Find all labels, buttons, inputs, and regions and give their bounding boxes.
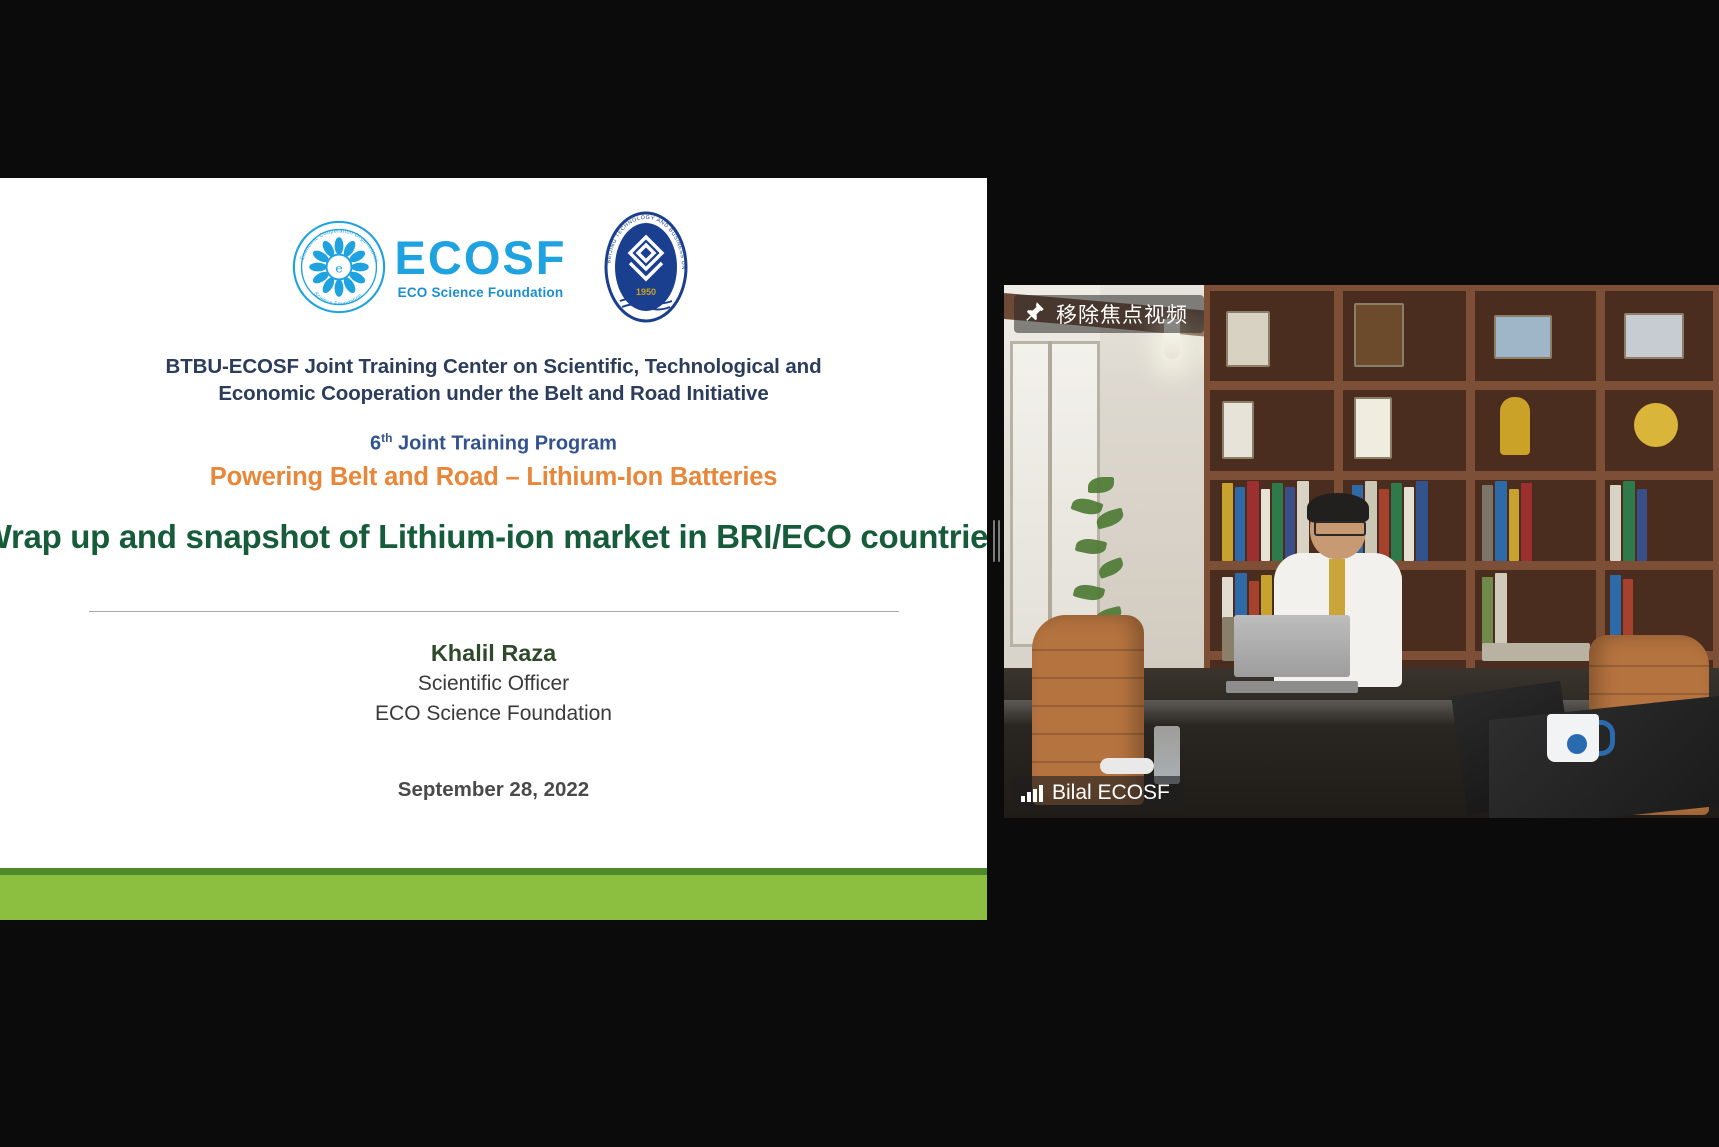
video-scene (1004, 285, 1719, 818)
slide-footer-bar (0, 868, 987, 920)
mug-logo (1567, 734, 1587, 754)
drag-handle-line (998, 520, 1000, 562)
remove-spotlight-label: 移除焦点视频 (1056, 299, 1188, 329)
drag-handle-icon[interactable] (993, 520, 1000, 562)
ecosf-wordmark-text: ECOSF (395, 234, 567, 281)
svg-text:1950: 1950 (636, 287, 656, 297)
ecosf-logo: e Economic Cooperation Organization Scie… (291, 219, 567, 315)
program-ordinal: th (381, 431, 392, 445)
slide-heading: BTBU-ECOSF Joint Training Center on Scie… (165, 353, 821, 407)
participant-name-label: Bilal ECOSF (1052, 781, 1170, 805)
slide-footer-stripe (0, 868, 987, 875)
ecosf-seal-icon: e Economic Cooperation Organization Scie… (291, 219, 387, 315)
participant-name-badge: Bilal ECOSF (1012, 776, 1184, 810)
presenter-name: Khalil Raza (375, 638, 612, 670)
drag-handle-line (993, 520, 995, 562)
room-window-mullion (1048, 341, 1052, 641)
meeting-stage: e Economic Cooperation Organization Scie… (0, 0, 1719, 1147)
signal-bars-icon (1021, 785, 1043, 802)
pin-icon (1024, 300, 1046, 328)
slide-main-title: Wrap up and snapshot of Lithium-ion mark… (0, 518, 987, 556)
slide-content: e Economic Cooperation Organization Scie… (0, 178, 987, 865)
program-line: 6th Joint Training Program (370, 431, 617, 456)
slide-logo-row: e Economic Cooperation Organization Scie… (291, 211, 697, 323)
remove-spotlight-button[interactable]: 移除焦点视频 (1014, 295, 1204, 333)
desk-remote (1100, 758, 1154, 774)
presenter-role: Scientific Officer (375, 669, 612, 698)
presenter-block: Khalil Raza Scientific Officer ECO Scien… (375, 638, 612, 729)
participant-laptop (1226, 615, 1358, 693)
presenter-organization: ECO Science Foundation (375, 699, 612, 728)
slide-heading-line-1: BTBU-ECOSF Joint Training Center on Scie… (165, 353, 821, 380)
ecosf-wordmark: ECOSF ECO Science Foundation (395, 234, 567, 300)
participant-video-tile[interactable]: 移除焦点视频 Bilal ECOSF (1004, 285, 1719, 818)
slide-divider-rule (89, 611, 899, 612)
svg-text:e: e (335, 260, 342, 275)
btbu-seal-icon: 1950 BEIJING TECHNOLOGY AND BUSINESS UNI… (596, 211, 696, 323)
program-number: 6 (370, 433, 381, 455)
ecosf-tagline: ECO Science Foundation (398, 286, 564, 300)
program-theme: Powering Belt and Road – Lithium-Ion Bat… (210, 463, 777, 492)
slide-heading-line-2: Economic Cooperation under the Belt and … (165, 380, 821, 407)
slide-date: September 28, 2022 (398, 778, 589, 802)
program-label: Joint Training Program (392, 433, 616, 455)
shared-screen-slide[interactable]: e Economic Cooperation Organization Scie… (0, 178, 987, 920)
